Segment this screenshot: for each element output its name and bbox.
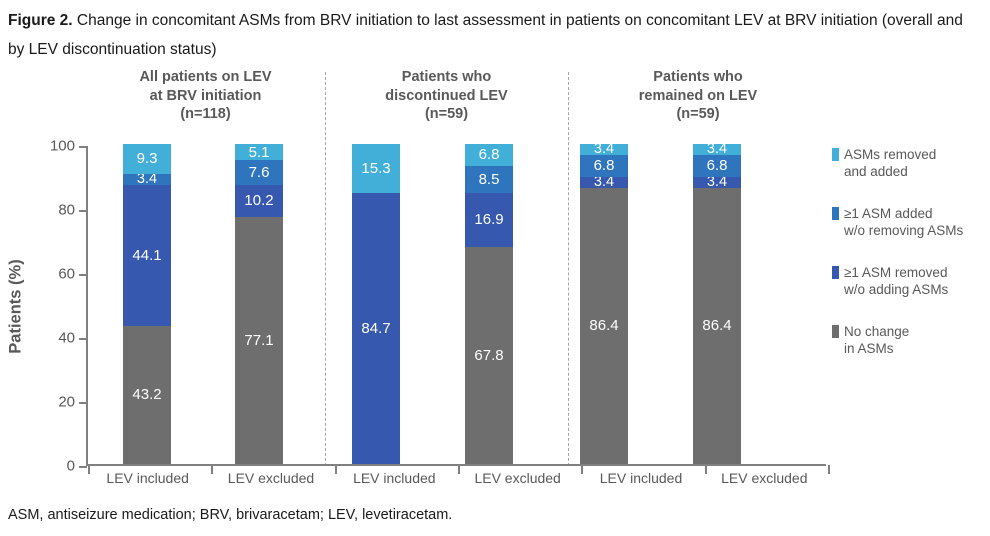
bar-segment-label: 3.4 [594, 177, 614, 188]
bar-segment[interactable]: 67.8 [465, 247, 513, 464]
legend-item-1[interactable]: ASMs removed and added [832, 146, 936, 180]
bar-segment[interactable]: 6.8 [465, 144, 513, 166]
bar-segment-label: 6.8 [707, 157, 728, 174]
stacked-bar[interactable]: 15.384.7 [352, 144, 400, 464]
group-header-line: (n=118) [86, 105, 325, 124]
bar-segment-label: 6.8 [479, 146, 500, 163]
x-axis-tick-label: LEV excluded [456, 470, 579, 486]
legend-item-2[interactable]: ≥1 ASM added w/o removing ASMs [832, 205, 963, 239]
y-axis-tick-label: 0 [67, 458, 75, 475]
bar-segment-label: 8.5 [479, 171, 500, 188]
group-header-3: Patients whoremained on LEV(n=59) [568, 68, 828, 124]
stacked-bar[interactable]: 3.46.83.486.4 [693, 144, 741, 464]
bar-segment-label: 43.2 [132, 386, 161, 403]
bar-segment-label: 3.4 [594, 144, 614, 155]
stacked-bar[interactable]: 3.46.83.486.4 [580, 144, 628, 464]
bar-segment[interactable]: 3.4 [693, 177, 741, 188]
y-axis-tick [79, 146, 87, 148]
y-axis-tick [79, 402, 87, 404]
y-axis-tick [79, 210, 87, 212]
bar-segment-label: 9.3 [137, 150, 158, 167]
bar-segment[interactable]: 5.1 [235, 144, 283, 160]
x-axis-tick-label: LEV included [579, 470, 702, 486]
bar-segment[interactable]: 10.2 [235, 185, 283, 218]
y-axis-tick-label: 100 [50, 138, 75, 155]
figure-footnote: ASM, antiseizure medication; BRV, brivar… [8, 507, 452, 523]
bar-segment[interactable]: 43.2 [123, 326, 171, 464]
legend-item-3[interactable]: ≥1 ASM removed w/o adding ASMs [832, 264, 948, 298]
bar-segment-label: 84.7 [361, 320, 390, 337]
group-header-line: remained on LEV [568, 87, 828, 106]
bar-segment-label: 3.4 [707, 177, 727, 188]
legend-swatch [832, 148, 839, 161]
stacked-bar[interactable]: 5.17.610.277.1 [235, 144, 283, 464]
legend-swatch [832, 266, 839, 279]
bar-segment[interactable]: 3.4 [580, 177, 628, 188]
stacked-bar[interactable]: 6.88.516.967.8 [465, 144, 513, 464]
bar-segment[interactable]: 6.8 [693, 155, 741, 177]
y-axis-title-text: Patients (%) [7, 259, 26, 353]
y-axis-tick [79, 274, 87, 276]
bar-segment[interactable]: 3.4 [123, 174, 171, 185]
x-axis-tick-label: LEV included [86, 470, 209, 486]
bar-segment[interactable]: 6.8 [580, 155, 628, 177]
legend-swatch [832, 207, 839, 220]
bar-segment[interactable]: 44.1 [123, 185, 171, 326]
x-axis-tick-label: LEV excluded [703, 470, 826, 486]
bar-segment-label: 3.4 [707, 144, 727, 155]
group-header-line: Patients who [568, 68, 828, 87]
bar-segment-label: 86.4 [702, 317, 731, 334]
bar-segment-label: 15.3 [361, 160, 390, 177]
bar-segment[interactable]: 77.1 [235, 217, 283, 464]
bar-segment[interactable]: 16.9 [465, 193, 513, 247]
x-axis-tick-label: LEV excluded [209, 470, 332, 486]
figure-title: Figure 2. Change in concomitant ASMs fro… [8, 6, 974, 64]
legend-label: No change in ASMs [844, 323, 909, 357]
bar-segment[interactable]: 8.5 [465, 166, 513, 193]
figure-title-text: Change in concomitant ASMs from BRV init… [8, 12, 963, 58]
group-header-line: (n=59) [568, 105, 828, 124]
bar-segment-label: 10.2 [244, 192, 273, 209]
y-axis-tick-label: 80 [58, 202, 75, 219]
bar-segment[interactable]: 3.4 [693, 144, 741, 155]
legend-item-4[interactable]: No change in ASMs [832, 323, 909, 357]
legend-label: ASMs removed and added [844, 146, 936, 180]
group-header-1: All patients on LEVat BRV initiation(n=1… [86, 68, 325, 124]
bar-segment-label: 7.6 [249, 164, 270, 181]
x-axis-tick [828, 465, 830, 474]
y-axis-title: Patients (%) [6, 146, 26, 466]
group-header-line: All patients on LEV [86, 68, 325, 87]
bar-segment[interactable]: 86.4 [580, 188, 628, 464]
bar-segment-label: 5.1 [249, 144, 270, 160]
bar-segment[interactable]: 84.7 [352, 193, 400, 464]
bar-segment[interactable]: 15.3 [352, 144, 400, 193]
bar-segment[interactable]: 3.4 [580, 144, 628, 155]
y-axis-tick-label: 40 [58, 330, 75, 347]
figure-canvas: All patients on LEVat BRV initiation(n=1… [0, 66, 990, 500]
group-header-line: (n=59) [325, 105, 568, 124]
bar-segment-label: 6.8 [594, 157, 615, 174]
x-axis-tick-label: LEV included [333, 470, 456, 486]
group-header-2: Patients whodiscontinued LEV(n=59) [325, 68, 568, 124]
figure-title-lead: Figure 2. [8, 12, 73, 29]
plot-area: 020406080100 9.33.444.143.25.17.610.277.… [86, 146, 826, 466]
bar-segment-label: 67.8 [474, 347, 503, 364]
group-header-line: Patients who [325, 68, 568, 87]
y-axis-tick [79, 466, 87, 468]
y-axis-tick-label: 60 [58, 266, 75, 283]
legend-label: ≥1 ASM added w/o removing ASMs [844, 205, 963, 239]
stacked-bar[interactable]: 9.33.444.143.2 [123, 144, 171, 464]
bar-segment-label: 44.1 [132, 247, 161, 264]
legend-label: ≥1 ASM removed w/o adding ASMs [844, 264, 948, 298]
bar-segment-label: 3.4 [137, 174, 157, 185]
legend-swatch [832, 325, 839, 338]
bar-segment-label: 86.4 [589, 317, 618, 334]
bar-segment[interactable]: 7.6 [235, 160, 283, 184]
bar-segment-label: 16.9 [474, 211, 503, 228]
bar-segment[interactable]: 86.4 [693, 188, 741, 464]
bar-segment[interactable]: 9.3 [123, 144, 171, 174]
group-header-line: at BRV initiation [86, 87, 325, 106]
bar-segment-label: 77.1 [244, 332, 273, 349]
y-axis-tick-label: 20 [58, 394, 75, 411]
y-axis-tick [79, 338, 87, 340]
group-header-line: discontinued LEV [325, 87, 568, 106]
